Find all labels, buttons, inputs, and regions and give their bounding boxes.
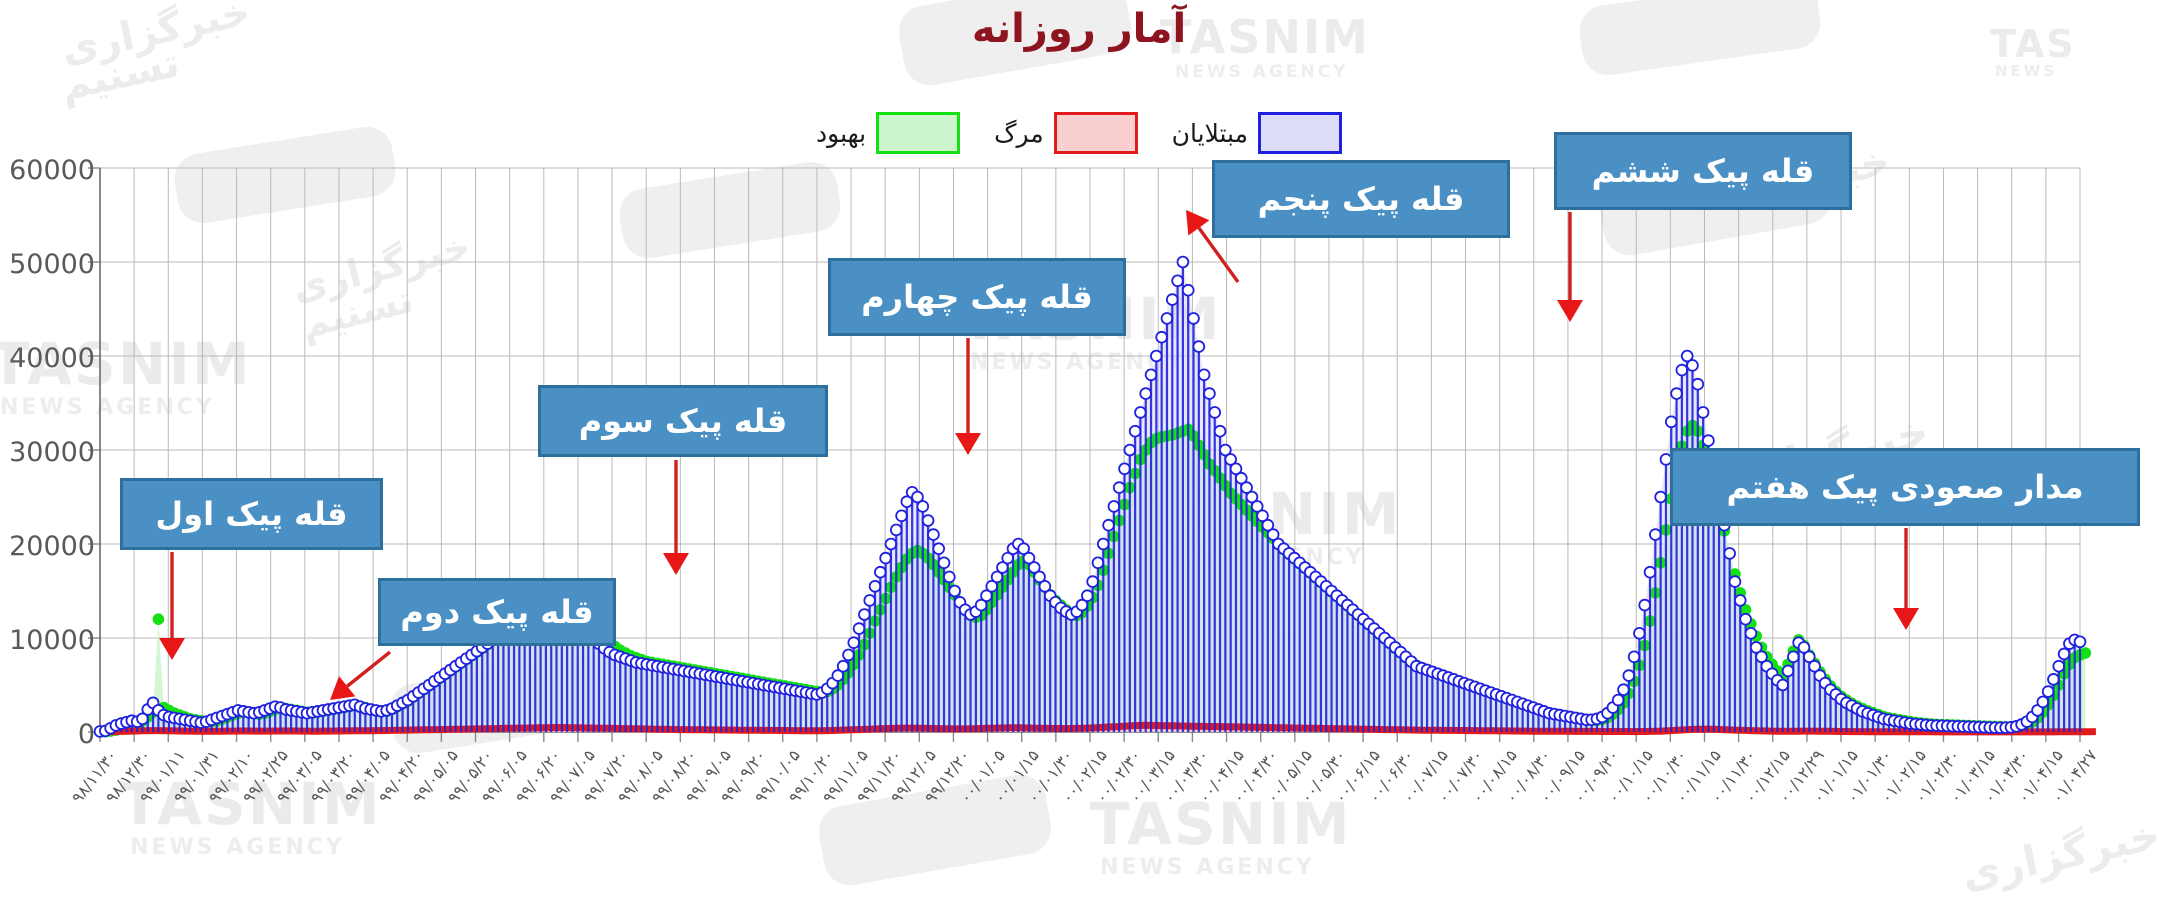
legend-item-deaths[interactable]: مرگ [994,112,1138,154]
annotation-peak3[interactable]: قله پیک سوم [538,385,828,457]
y-tick-10000: 10000 [0,625,95,656]
annotation-peak5[interactable]: قله پیک پنجم [1212,160,1510,238]
y-tick-60000: 60000 [0,155,95,186]
legend-label-infected: مبتلایان [1172,119,1248,148]
annotation-peak6[interactable]: قله پیک ششم [1554,132,1852,210]
y-tick-30000: 30000 [0,437,95,468]
annotation-peak4[interactable]: قله پیک چهارم [828,258,1126,336]
legend-swatch-deaths [1054,112,1138,154]
legend-item-recovered[interactable]: بهبود [816,112,960,154]
page-title: آمار روزانه [0,6,2158,52]
y-tick-40000: 40000 [0,343,95,374]
annotation-peak7[interactable]: مدار صعودی پیک هفتم [1670,448,2140,526]
y-tick-20000: 20000 [0,531,95,562]
annotation-peak1[interactable]: قله پیک اول [120,478,383,550]
legend-swatch-infected [1258,112,1342,154]
legend-label-recovered: بهبود [816,119,866,148]
y-tick-0: 0 [0,719,95,750]
legend-label-deaths: مرگ [994,119,1044,148]
legend-swatch-recovered [876,112,960,154]
legend-item-infected[interactable]: مبتلایان [1172,112,1342,154]
annotation-peak2[interactable]: قله پیک دوم [378,578,616,646]
y-tick-50000: 50000 [0,249,95,280]
